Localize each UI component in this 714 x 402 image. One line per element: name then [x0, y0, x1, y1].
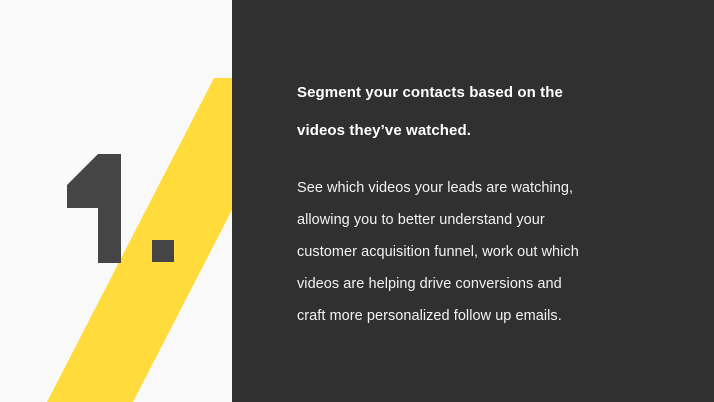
- numeral-one-stem: [98, 154, 121, 263]
- body-copy: See which videos your leads are watching…: [297, 150, 667, 332]
- body-line: videos are helping drive conversions and: [297, 268, 667, 300]
- left-panel: [0, 0, 232, 402]
- page-title: Segment your contacts based on the video…: [297, 74, 667, 150]
- heading-line: videos they’ve watched.: [297, 112, 667, 150]
- content-panel: Segment your contacts based on the video…: [232, 0, 714, 402]
- body-line: allowing you to better understand your: [297, 204, 667, 236]
- heading-line: Segment your contacts based on the: [297, 74, 667, 112]
- body-line: customer acquisition funnel, work out wh…: [297, 236, 667, 268]
- diagonal-accent-stripe: [0, 0, 232, 402]
- text-block: Segment your contacts based on the video…: [297, 74, 667, 332]
- body-line: See which videos your leads are watching…: [297, 172, 667, 204]
- slide-root: Segment your contacts based on the video…: [0, 0, 714, 402]
- numeral-one-flag: [67, 154, 121, 208]
- body-line: craft more personalized follow up emails…: [297, 300, 667, 332]
